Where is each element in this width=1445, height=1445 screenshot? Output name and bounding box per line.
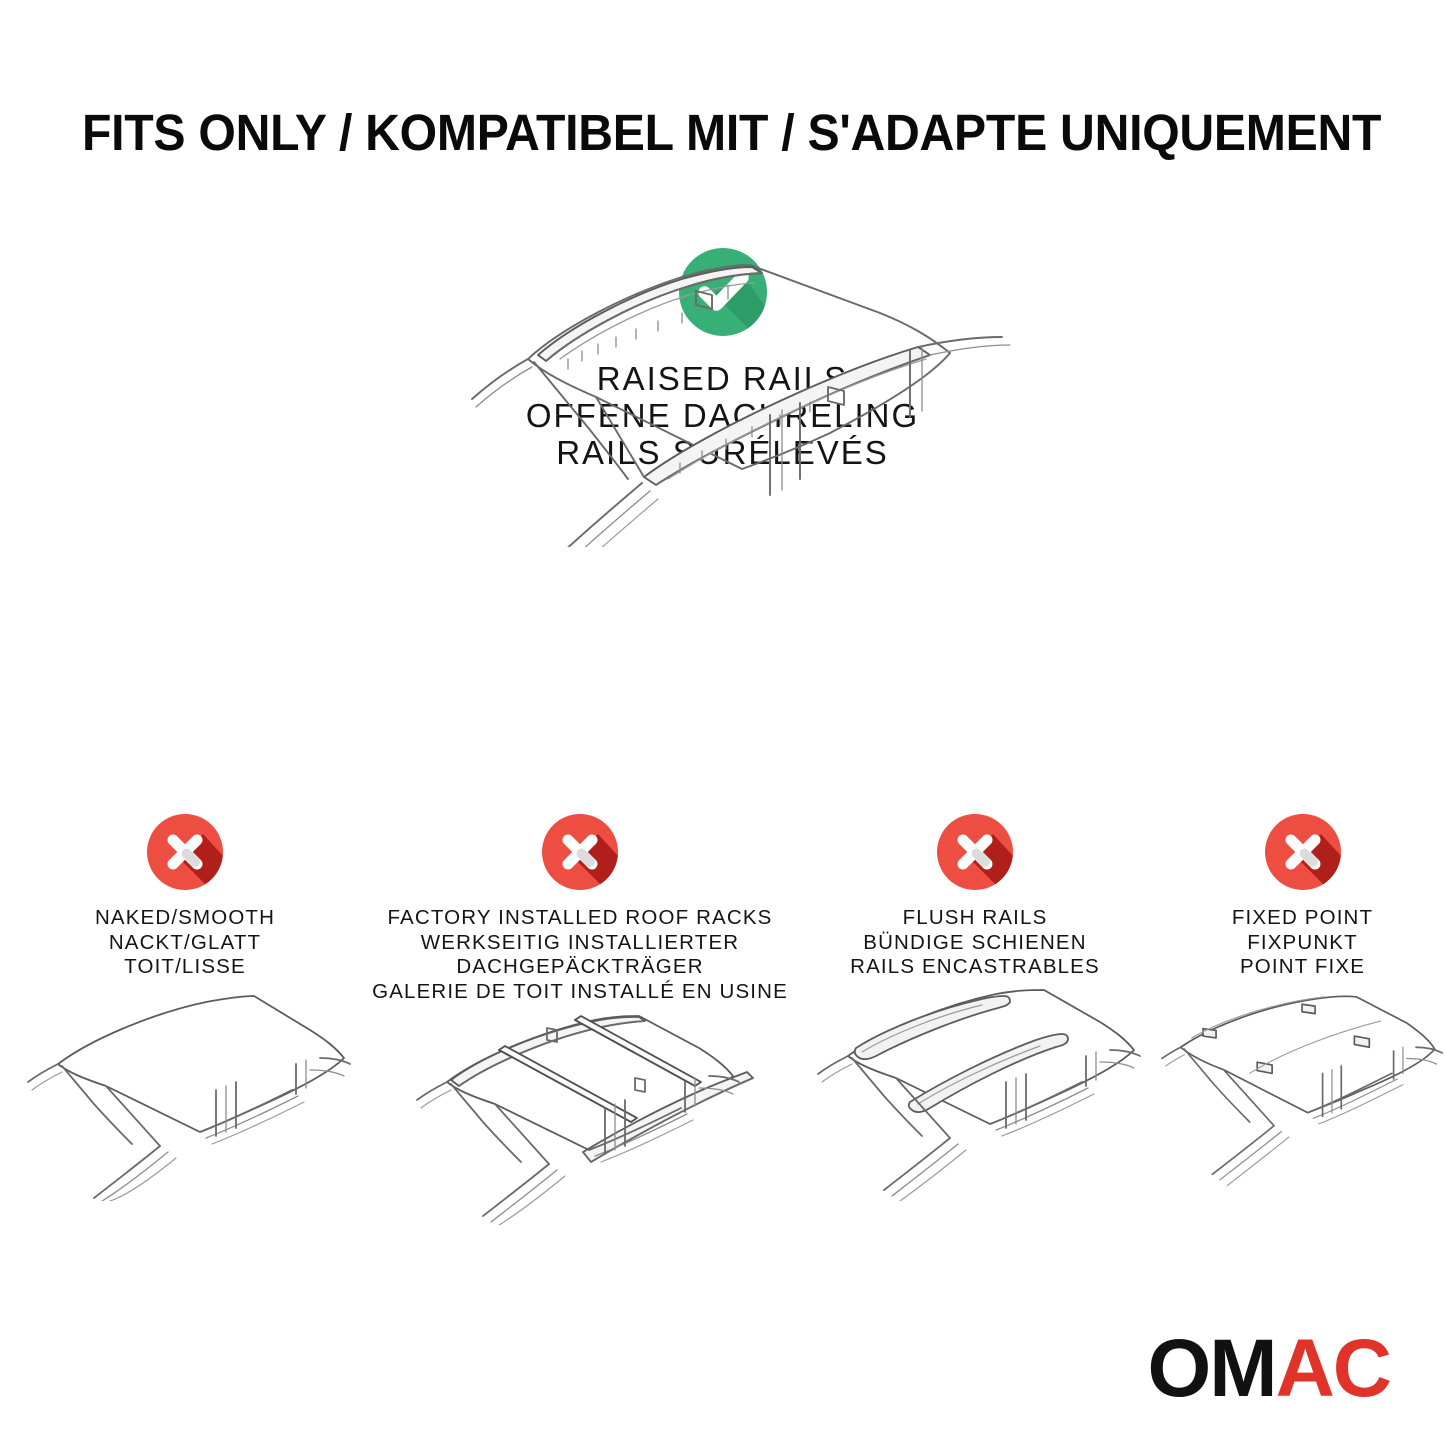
incompatible-label-2: FACTORY INSTALLED ROOF RACKS WERKSEITIG … [370, 906, 790, 1004]
label-line-de: BÜNDIGE SCHIENEN [790, 931, 1160, 956]
cross-circle-icon [540, 812, 620, 892]
incompatible-label-3: FLUSH RAILS BÜNDIGE SCHIENEN RAILS ENCAS… [790, 906, 1160, 980]
label-line-de: NACKT/GLATT [0, 931, 370, 956]
incompatible-item-fixed-point: FIXED POINT FIXPUNKT POINT FIXE [1160, 812, 1445, 1201]
incompatible-badge-2 [370, 812, 790, 892]
label-line-en: NAKED/SMOOTH [0, 906, 370, 931]
incompatible-badge-1 [0, 812, 370, 892]
page-title: FITS ONLY / KOMPATIBEL MIT / S'ADAPTE UN… [82, 104, 1301, 162]
label-line-de-1: WERKSEITIG INSTALLIERTER [370, 931, 790, 956]
logo-text-dark: OM [1147, 1328, 1275, 1410]
incompatible-illustration-4 [1160, 986, 1445, 1201]
label-line-de: FIXPUNKT [1160, 931, 1445, 956]
label-line-en: FACTORY INSTALLED ROOF RACKS [370, 906, 790, 931]
incompatible-label-4: FIXED POINT FIXPUNKT POINT FIXE [1160, 906, 1445, 980]
label-line-fr: TOIT/LISSE [0, 955, 370, 980]
cross-circle-icon [935, 812, 1015, 892]
label-line-fr: GALERIE DE TOIT INSTALLÉ EN USINE [370, 980, 790, 1005]
car-roof-raised-rails-illustration [410, 247, 1030, 547]
incompatible-badge-3 [790, 812, 1160, 892]
incompatible-item-naked-smooth: NAKED/SMOOTH NACKT/GLATT TOIT/LISSE [0, 812, 370, 1201]
incompatible-illustration-2 [370, 1010, 790, 1225]
logo-text-red: AC [1276, 1328, 1390, 1410]
label-line-en: FIXED POINT [1160, 906, 1445, 931]
incompatible-row: NAKED/SMOOTH NACKT/GLATT TOIT/LISSE [0, 812, 1445, 1225]
incompatible-illustration-3 [790, 986, 1160, 1201]
incompatible-badge-4 [1160, 812, 1445, 892]
label-line-fr: POINT FIXE [1160, 955, 1445, 980]
car-roof-fixed-point-illustration [1160, 986, 1445, 1201]
cross-circle-icon [1263, 812, 1343, 892]
label-line-en: FLUSH RAILS [790, 906, 1160, 931]
car-roof-naked-smooth-illustration [10, 986, 360, 1201]
cross-circle-icon [145, 812, 225, 892]
incompatible-label-1: NAKED/SMOOTH NACKT/GLATT TOIT/LISSE [0, 906, 370, 980]
label-line-fr: RAILS ENCASTRABLES [790, 955, 1160, 980]
brand-logo: OMAC [1147, 1328, 1390, 1410]
incompatible-item-factory-racks: FACTORY INSTALLED ROOF RACKS WERKSEITIG … [370, 812, 790, 1225]
label-line-de-2: DACHGEPÄCKTRÄGER [370, 955, 790, 980]
incompatible-illustration-1 [0, 986, 370, 1201]
fitment-infographic: FITS ONLY / KOMPATIBEL MIT / S'ADAPTE UN… [0, 0, 1445, 1445]
car-roof-flush-rails-illustration [800, 986, 1150, 1201]
compatible-illustration [410, 247, 1030, 547]
car-roof-factory-racks-illustration [395, 1010, 765, 1225]
incompatible-item-flush-rails: FLUSH RAILS BÜNDIGE SCHIENEN RAILS ENCAS… [790, 812, 1160, 1201]
